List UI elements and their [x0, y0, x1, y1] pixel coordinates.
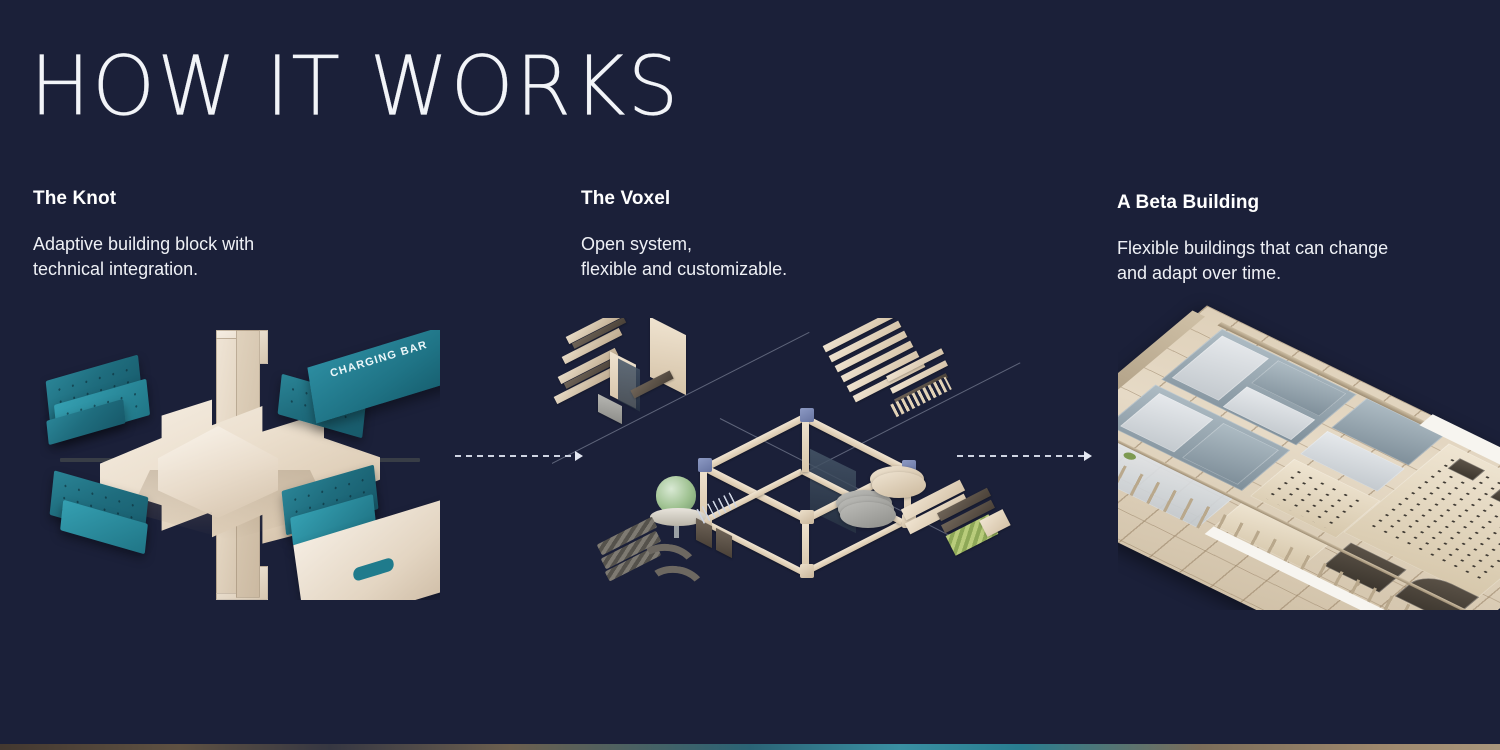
step-beta-title: A Beta Building [1117, 192, 1467, 214]
step-knot-description: Adaptive building block with technical i… [33, 232, 363, 282]
voxel-disc-wood-2 [872, 472, 926, 498]
step-voxel-title: The Voxel [581, 188, 921, 210]
voxel-node-a [698, 458, 712, 472]
voxel-disc-grey-3 [840, 502, 896, 528]
voxel-node-f [800, 564, 814, 578]
arrow-right-icon [1084, 451, 1092, 461]
beta-building-floorplate [1118, 306, 1500, 610]
page-title: HOW IT WORKS [30, 46, 680, 128]
knot-illustration: CHARGING BAR [40, 330, 440, 600]
connector-voxel-to-beta [957, 450, 1092, 462]
step-knot-title: The Knot [33, 188, 363, 210]
voxel-node-b [800, 408, 814, 422]
knot-panel-slot [352, 557, 394, 582]
step-voxel: The Voxel Open system, flexible and cust… [581, 188, 921, 282]
step-beta: A Beta Building Flexible buildings that … [1117, 192, 1467, 286]
beta-building-illustration [1118, 275, 1500, 610]
voxel-beam-top-a [704, 414, 807, 471]
charging-bar-label: CHARGING BAR [329, 339, 429, 380]
knot-charging-bar: CHARGING BAR [307, 330, 440, 424]
connector-dashed-line [957, 455, 1085, 457]
step-knot: The Knot Adaptive building block with te… [33, 188, 363, 282]
next-slide-preview-sliver [0, 744, 1500, 750]
voxel-node-c [800, 510, 814, 524]
voxel-wall-glass [618, 358, 640, 411]
voxel-column-b [802, 414, 809, 472]
step-voxel-description: Open system, flexible and customizable. [581, 232, 921, 282]
